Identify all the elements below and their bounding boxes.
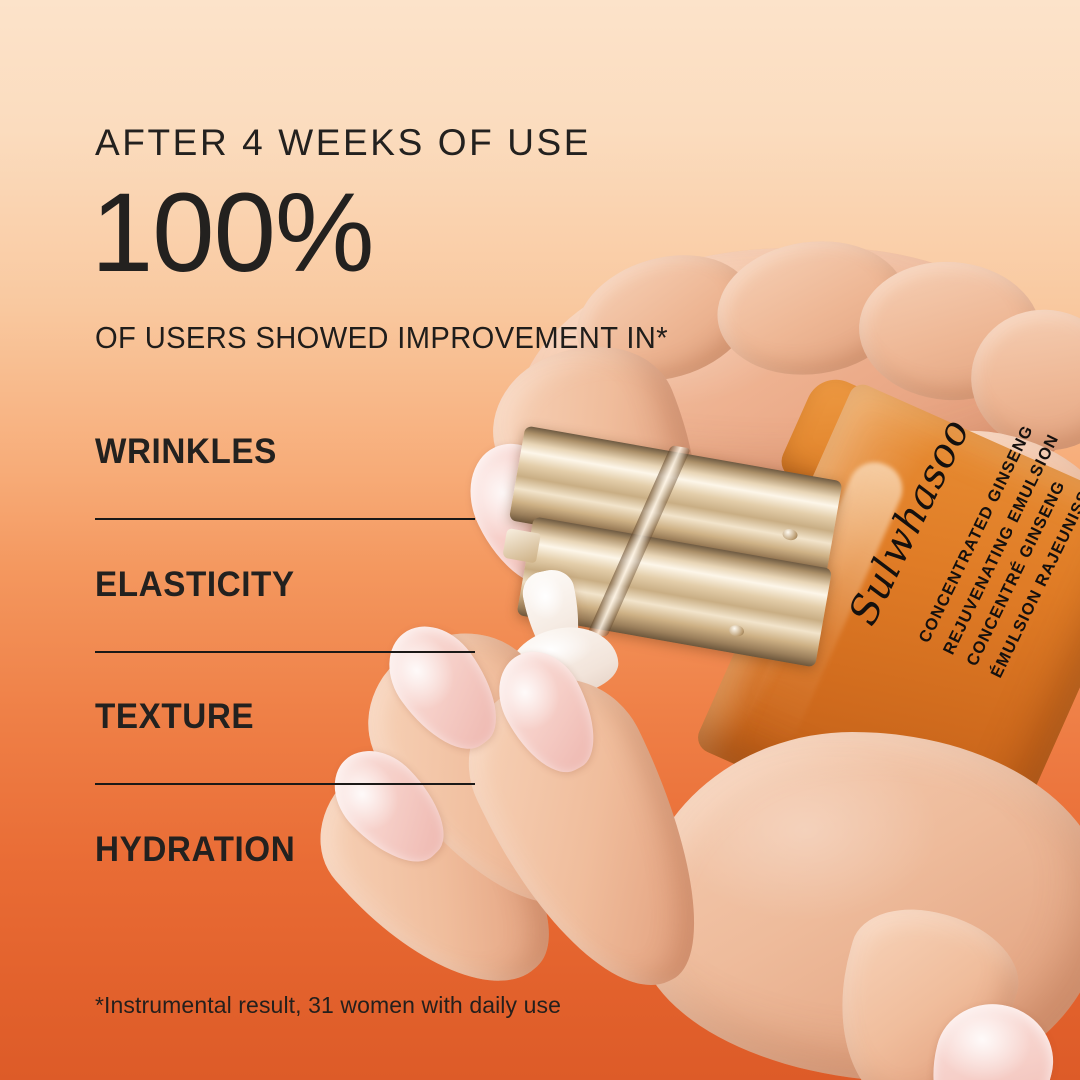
text-overlay: AFTER 4 WEEKS OF USE 100% OF USERS SHOWE… (0, 0, 1080, 1080)
benefit-item-texture: TEXTURE (95, 697, 254, 737)
promo-image: Sulwhasoo CONCENTRATED GINSENG REJUVENAT… (0, 0, 1080, 1080)
benefit-divider (95, 783, 475, 785)
benefit-divider (95, 518, 475, 520)
benefit-item-wrinkles: WRINKLES (95, 432, 277, 472)
subline-text: OF USERS SHOWED IMPROVEMENT IN* (95, 320, 668, 356)
benefit-item-hydration: HYDRATION (95, 830, 295, 870)
stat-percentage: 100% (91, 177, 373, 289)
benefit-divider (95, 651, 475, 653)
eyebrow-text: AFTER 4 WEEKS OF USE (95, 122, 591, 164)
footnote-text: *Instrumental result, 31 women with dail… (95, 992, 561, 1019)
benefit-item-elasticity: ELASTICITY (95, 565, 295, 605)
